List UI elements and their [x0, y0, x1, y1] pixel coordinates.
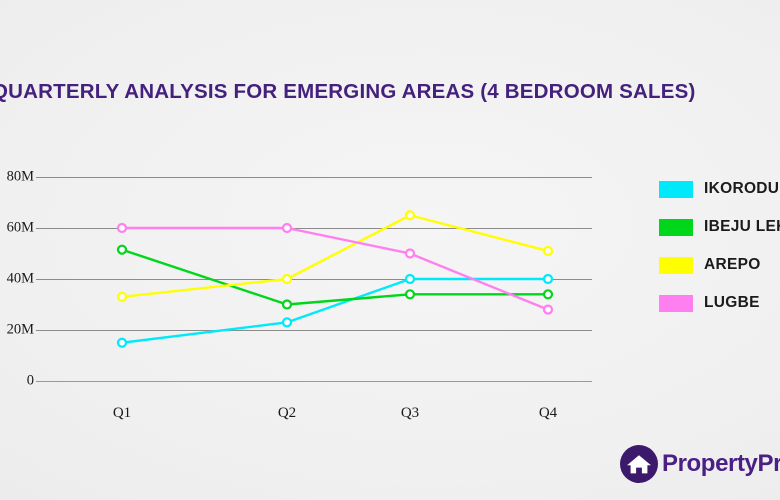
house-icon [620, 445, 658, 483]
y-axis-tick-label: 40M [0, 271, 34, 288]
data-point-marker[interactable] [118, 246, 126, 254]
chart-title: QUARTERLY ANALYSIS FOR EMERGING AREAS (4… [0, 79, 692, 105]
data-point-marker[interactable] [544, 306, 552, 314]
legend-item[interactable]: AREPO [659, 246, 780, 284]
plot-area [36, 170, 592, 388]
x-axis-tick-label: Q4 [539, 405, 557, 422]
data-point-marker[interactable] [118, 224, 126, 232]
series-line [122, 279, 548, 343]
data-point-marker[interactable] [544, 275, 552, 283]
chart-legend: IKORODUIBEJU LEKKIAREPOLUGBE [659, 170, 780, 322]
legend-item-label: LUGBE [704, 294, 760, 312]
data-point-marker[interactable] [544, 290, 552, 298]
data-point-marker[interactable] [283, 224, 291, 232]
y-axis-tick-label: 20M [0, 322, 34, 339]
data-point-marker[interactable] [406, 250, 414, 258]
series-line [122, 250, 548, 305]
legend-swatch [659, 257, 693, 274]
legend-swatch [659, 295, 693, 312]
y-axis-tick-label: 60M [0, 220, 34, 237]
y-axis-tick-label: 0 [0, 373, 34, 390]
data-point-marker[interactable] [406, 275, 414, 283]
y-axis-tick-label: 80M [0, 169, 34, 186]
data-point-marker[interactable] [283, 318, 291, 326]
legend-item[interactable]: LUGBE [659, 284, 780, 322]
data-point-marker[interactable] [283, 301, 291, 309]
x-axis-tick-label: Q2 [278, 405, 296, 422]
data-point-marker[interactable] [406, 211, 414, 219]
legend-item-label: AREPO [704, 256, 761, 274]
propertypro-logo[interactable]: PropertyPro [620, 445, 780, 483]
data-point-marker[interactable] [118, 293, 126, 301]
series-line [122, 228, 548, 310]
data-point-marker[interactable] [118, 339, 126, 347]
data-point-marker[interactable] [544, 247, 552, 255]
data-point-marker[interactable] [406, 290, 414, 298]
legend-item[interactable]: IBEJU LEKKI [659, 208, 780, 246]
legend-swatch [659, 219, 693, 236]
x-axis-tick-label: Q3 [401, 405, 419, 422]
x-axis-tick-label: Q1 [113, 405, 131, 422]
slide-canvas: QUARTERLY ANALYSIS FOR EMERGING AREAS (4… [0, 0, 780, 500]
logo-wordmark: PropertyPro [662, 450, 780, 478]
legend-item-label: IKORODU [704, 180, 779, 198]
x-axis-labels: Q1Q2Q3Q4 [36, 381, 592, 411]
legend-item-label: IBEJU LEKKI [704, 218, 780, 236]
data-point-marker[interactable] [283, 275, 291, 283]
legend-swatch [659, 181, 693, 198]
series-lines [36, 170, 592, 388]
legend-item[interactable]: IKORODU [659, 170, 780, 208]
